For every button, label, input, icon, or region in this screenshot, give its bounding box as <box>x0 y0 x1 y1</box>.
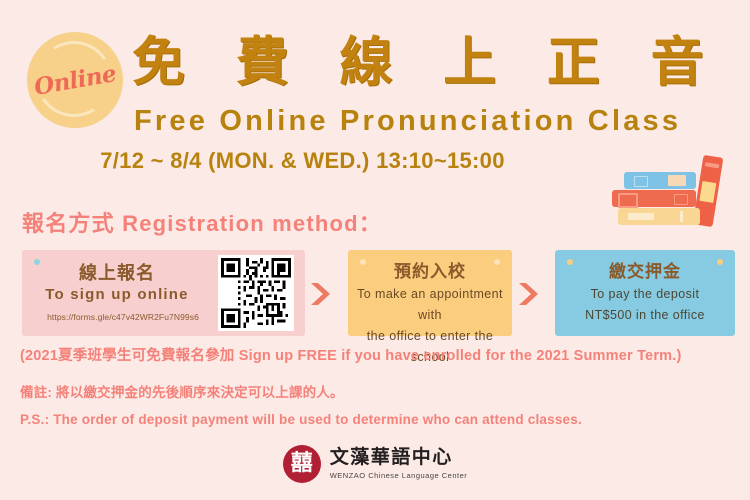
book-band-top <box>705 162 719 168</box>
arrow-right-icon <box>517 281 545 307</box>
step-card-sign-up-online: 線上報名 To sign up online https://forms.gle… <box>22 250 305 336</box>
poster-header: Online 免 費 線 上 正 音 班 Free Online Pronunc… <box>0 14 750 102</box>
book-label <box>628 213 654 220</box>
poster-canvas: Online 免 費 線 上 正 音 班 Free Online Pronunc… <box>0 0 750 500</box>
note-ps-chinese: 備註: 將以繳交押金的先後順序來決定可以上課的人。 <box>20 383 730 403</box>
step3-body-line1: To pay the deposit <box>555 284 735 305</box>
step-card-pay-deposit: 繳交押金 To pay the deposit NT$500 in the of… <box>555 250 735 336</box>
book-blue <box>624 172 696 189</box>
books-illustration <box>600 152 740 232</box>
title-chinese: 免 費 線 上 正 音 班 <box>132 32 732 94</box>
badge-label: Online <box>19 24 130 135</box>
step3-body-line2: NT$500 in the office <box>555 305 735 326</box>
notes-section: (2021夏季班學生可免費報名參加 Sign up FREE if you ha… <box>20 346 730 430</box>
book-red <box>612 190 696 207</box>
step2-body-line1: To make an appointment with <box>348 284 512 326</box>
logo-text-block: 文藻華語中心 WENZAO Chinese Language Center <box>330 447 468 482</box>
footer-logo: 囍 文藻華語中心 WENZAO Chinese Language Center <box>0 440 750 488</box>
step2-title: 預約入校 <box>348 257 512 282</box>
step1-subtitle: To sign up online <box>22 286 212 303</box>
book-yellow <box>618 208 700 225</box>
note-free-enrollment: (2021夏季班學生可免費報名參加 Sign up FREE if you ha… <box>20 346 730 366</box>
note-ps-english: P.S.: The order of deposit payment will … <box>20 410 730 430</box>
book-label <box>668 175 686 186</box>
book-detail-line <box>680 211 683 222</box>
logo-name-english: WENZAO Chinese Language Center <box>330 470 468 482</box>
book-detail-line <box>634 176 648 187</box>
registration-steps: 線上報名 To sign up online https://forms.gle… <box>0 250 750 336</box>
step1-title: 線上報名 <box>22 259 212 285</box>
seal-glyph: 囍 <box>283 445 321 483</box>
registration-method-heading: 報名方式 Registration method： <box>22 206 382 238</box>
wenzao-seal-icon: 囍 <box>283 445 321 483</box>
online-badge: Online <box>27 32 123 128</box>
logo-name-chinese: 文藻華語中心 <box>330 447 468 469</box>
step-card-make-appointment: 預約入校 To make an appointment with the off… <box>348 250 512 336</box>
book-band <box>699 181 716 203</box>
arrow-right-icon <box>309 281 337 307</box>
book-label <box>618 193 638 208</box>
signup-form-url[interactable]: https://forms.gle/c47v42WR2Fu7N99s6 <box>28 312 218 322</box>
book-detail-line <box>674 194 688 205</box>
title-english: Free Online Pronunciation Class <box>134 104 734 138</box>
qr-code-icon[interactable] <box>218 255 294 331</box>
step3-body: To pay the deposit NT$500 in the office <box>555 284 735 326</box>
step3-title: 繳交押金 <box>555 257 735 282</box>
